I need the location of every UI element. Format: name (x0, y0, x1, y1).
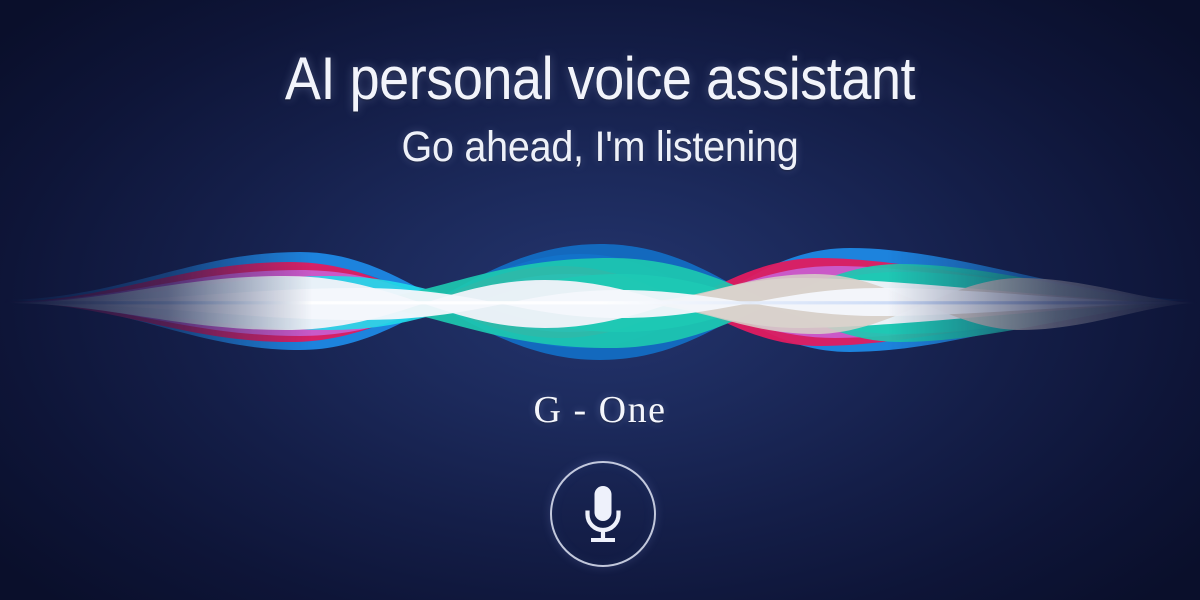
waveform-visualizer (0, 218, 1200, 388)
headline-block: AI personal voice assistant Go ahead, I'… (0, 48, 1200, 170)
wave-centerline (0, 301, 1200, 304)
page-title: AI personal voice assistant (60, 48, 1140, 109)
mic-button[interactable] (550, 461, 656, 567)
microphone-icon (580, 483, 626, 545)
audio-waveform-icon (0, 218, 1200, 388)
brand-name: G - One (0, 388, 1200, 432)
page-subtitle: Go ahead, I'm listening (48, 126, 1152, 170)
voice-assistant-screen: AI personal voice assistant Go ahead, I'… (0, 0, 1200, 600)
